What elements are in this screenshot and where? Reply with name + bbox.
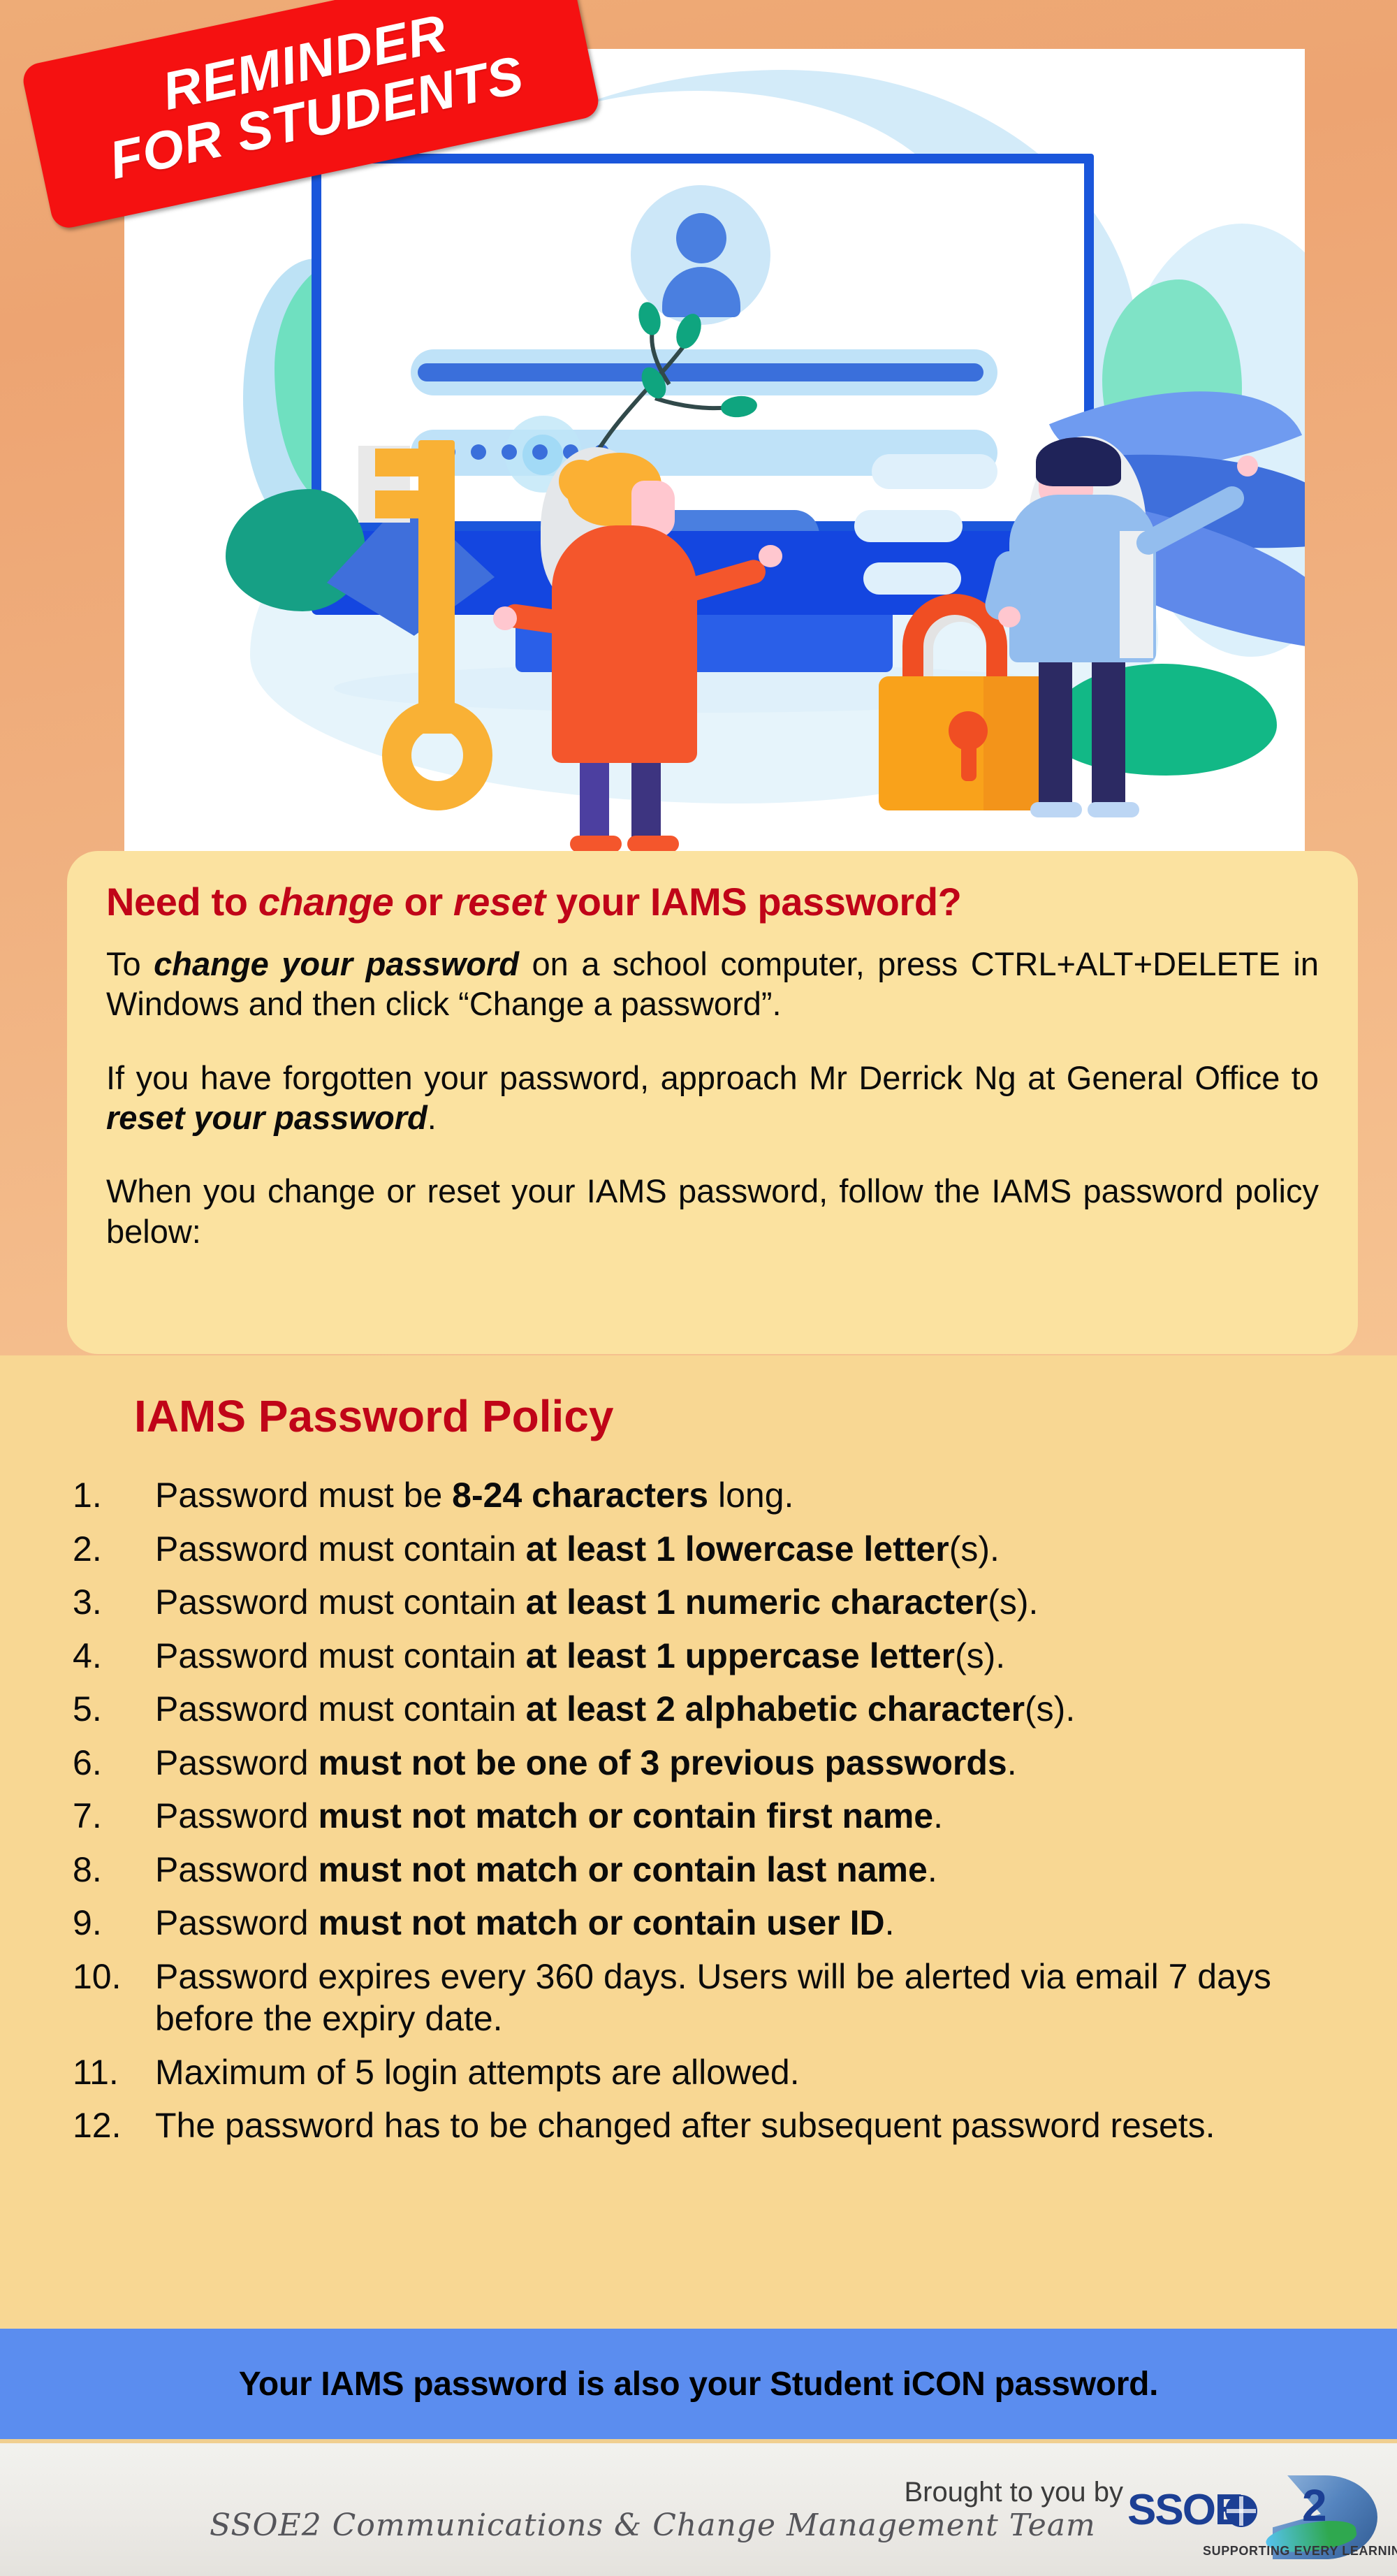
rule-text-post: . [1007, 1743, 1017, 1782]
ssoe2-logo-numeral: 2 [1302, 2480, 1327, 2531]
rule-text-pre: Password must contain [155, 1689, 526, 1729]
banner-text: Your IAMS password is also your Student … [239, 2365, 1158, 2403]
policy-rule-6: Password must not be one of 3 previous p… [73, 1742, 1330, 1784]
globe-icon [1225, 2495, 1257, 2527]
para1-bold: change your password [154, 945, 519, 982]
policy-rule-3: Password must contain at least 1 numeric… [73, 1581, 1330, 1624]
rule-text-pre: Password [155, 1796, 318, 1835]
rule-text-post: (s). [955, 1636, 1005, 1675]
ssoe2-logo-tagline: SUPPORTING EVERY LEARNING MOMENT [1203, 2544, 1397, 2559]
card-paragraph-1: To change your password on a school comp… [106, 944, 1319, 1024]
policy-rule-9: Password must not match or contain user … [73, 1902, 1330, 1944]
card-heading-post: your IAMS password? [546, 880, 962, 924]
card-heading-pre: Need to [106, 880, 258, 924]
para2-part-a: If you have forgotten your password, app… [106, 1059, 1319, 1096]
avatar-head-icon [676, 213, 726, 263]
deco-bar-3 [863, 562, 961, 595]
rule-text-pre: Password must contain [155, 1582, 526, 1622]
card-paragraph-2: If you have forgotten your password, app… [106, 1058, 1319, 1138]
rule-text-bold: must not match or contain user ID [318, 1903, 884, 1942]
rule-text-pre: Password [155, 1850, 318, 1889]
rule-text-post: . [885, 1903, 895, 1942]
key-icon [358, 440, 533, 831]
rule-text-bold: must not be one of 3 previous passwords [318, 1743, 1007, 1782]
rule-text-bold: 8-24 characters [452, 1476, 708, 1515]
rule-text-pre: Maximum of 5 login attempts are allowed. [155, 2053, 800, 2092]
para2-bold: reset your password [106, 1099, 427, 1136]
sprig-plant-icon [571, 300, 767, 461]
policy-rule-8: Password must not match or contain last … [73, 1849, 1330, 1891]
rule-text-pre: Password [155, 1743, 318, 1782]
deco-bar-2 [854, 510, 963, 542]
person-man-illustration [994, 419, 1204, 838]
policy-section: IAMS Password Policy Password must be 8-… [0, 1355, 1397, 2329]
footer-brought-by: Brought to you by [904, 2477, 1123, 2508]
rule-text-bold: at least 1 lowercase letter [526, 1529, 949, 1569]
deco-bar-1 [872, 454, 997, 489]
rule-text-post: long. [708, 1476, 793, 1515]
policy-rule-5: Password must contain at least 2 alphabe… [73, 1688, 1330, 1731]
policy-title: IAMS Password Policy [134, 1390, 1330, 1442]
footer-team-signature: SSOE2 Communications & Change Management… [210, 2508, 1096, 2543]
para1-part-a: To [106, 945, 154, 982]
poster-root: REMINDER FOR STUDENTS Need to change or … [0, 0, 1397, 2576]
card-paragraph-3: When you change or reset your IAMS passw… [106, 1171, 1319, 1251]
rule-text-pre: Password expires every 360 days. Users w… [155, 1957, 1271, 2039]
rule-text-pre: Password must contain [155, 1529, 526, 1569]
policy-rule-7: Password must not match or contain first… [73, 1795, 1330, 1838]
person-woman-illustration [536, 447, 732, 838]
rule-text-pre: The password has to be changed after sub… [155, 2106, 1215, 2145]
rule-text-bold: at least 1 uppercase letter [526, 1636, 955, 1675]
info-card: Need to change or reset your IAMS passwo… [67, 851, 1358, 1354]
policy-rule-4: Password must contain at least 1 upperca… [73, 1635, 1330, 1678]
rule-text-pre: Password must contain [155, 1636, 526, 1675]
rule-text-bold: at least 1 numeric character [526, 1582, 988, 1622]
policy-rule-2: Password must contain at least 1 lowerca… [73, 1528, 1330, 1571]
policy-rule-12: The password has to be changed after sub… [73, 2104, 1330, 2147]
card-heading: Need to change or reset your IAMS passwo… [106, 879, 1319, 924]
card-heading-change: change [258, 880, 394, 924]
ssoe2-logo: SSOE 2 SUPPORTING EVERY LEARNING MOMENT [1122, 2470, 1382, 2566]
policy-rules-list: Password must be 8-24 characters long.Pa… [73, 1474, 1330, 2147]
page-footer: SSOE2 Communications & Change Management… [0, 2439, 1397, 2576]
rule-text-bold: at least 2 alphabetic character [526, 1689, 1025, 1729]
rule-text-bold: must not match or contain last name [318, 1850, 927, 1889]
policy-rule-1: Password must be 8-24 characters long. [73, 1474, 1330, 1517]
rule-text-post: . [933, 1796, 943, 1835]
rule-text-pre: Password [155, 1903, 318, 1942]
rule-text-post: . [928, 1850, 937, 1889]
rule-text-post: (s). [1025, 1689, 1075, 1729]
para2-part-c: . [427, 1099, 437, 1136]
policy-rule-11: Maximum of 5 login attempts are allowed. [73, 2051, 1330, 2094]
policy-rule-10: Password expires every 360 days. Users w… [73, 1956, 1330, 2040]
rule-text-post: (s). [988, 1582, 1038, 1622]
card-heading-mid: or [393, 880, 453, 924]
card-heading-reset: reset [453, 880, 546, 924]
icon-password-banner: Your IAMS password is also your Student … [0, 2329, 1397, 2439]
rule-text-pre: Password must be [155, 1476, 452, 1515]
rule-text-bold: must not match or contain first name [318, 1796, 933, 1835]
rule-text-post: (s). [949, 1529, 1000, 1569]
